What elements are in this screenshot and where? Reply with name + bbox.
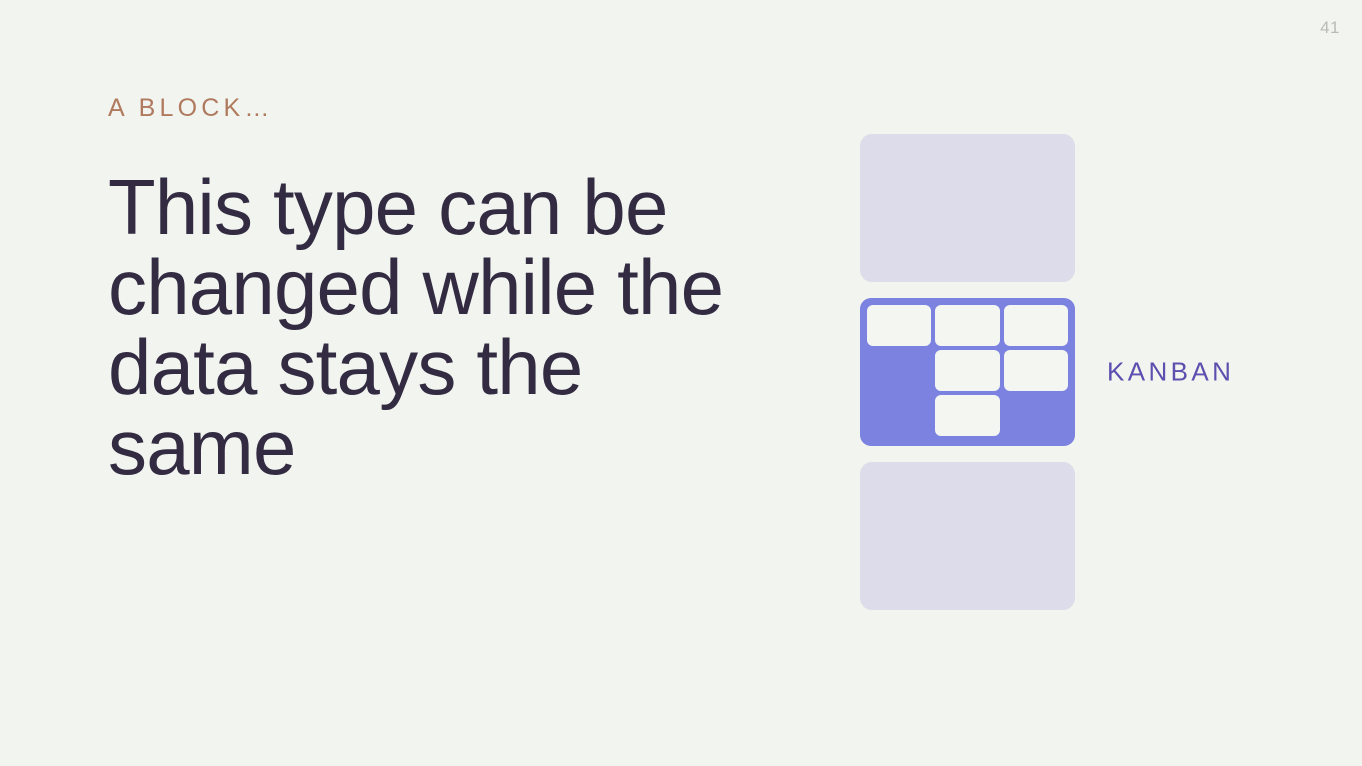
kanban-card	[867, 305, 931, 346]
kanban-card	[1004, 305, 1068, 346]
placeholder-block-bottom	[860, 462, 1075, 610]
kanban-column-2	[935, 305, 999, 439]
kanban-card	[935, 395, 999, 436]
illustration-column: KANBAN	[860, 134, 1075, 610]
kanban-column-1	[867, 305, 931, 439]
placeholder-block-top	[860, 134, 1075, 282]
kanban-board-icon	[860, 298, 1075, 446]
eyebrow-label: A BLOCK…	[108, 96, 788, 121]
kanban-card	[1004, 350, 1068, 391]
kanban-card	[935, 305, 999, 346]
kanban-card	[935, 350, 999, 391]
text-column: A BLOCK… This type can be changed while …	[108, 96, 788, 487]
page-title: This type can be changed while the data …	[108, 167, 768, 487]
kanban-illustration: KANBAN	[860, 298, 1075, 446]
kanban-column-3	[1004, 305, 1068, 439]
kanban-label: KANBAN	[1107, 357, 1234, 388]
page-number: 41	[1320, 18, 1340, 38]
